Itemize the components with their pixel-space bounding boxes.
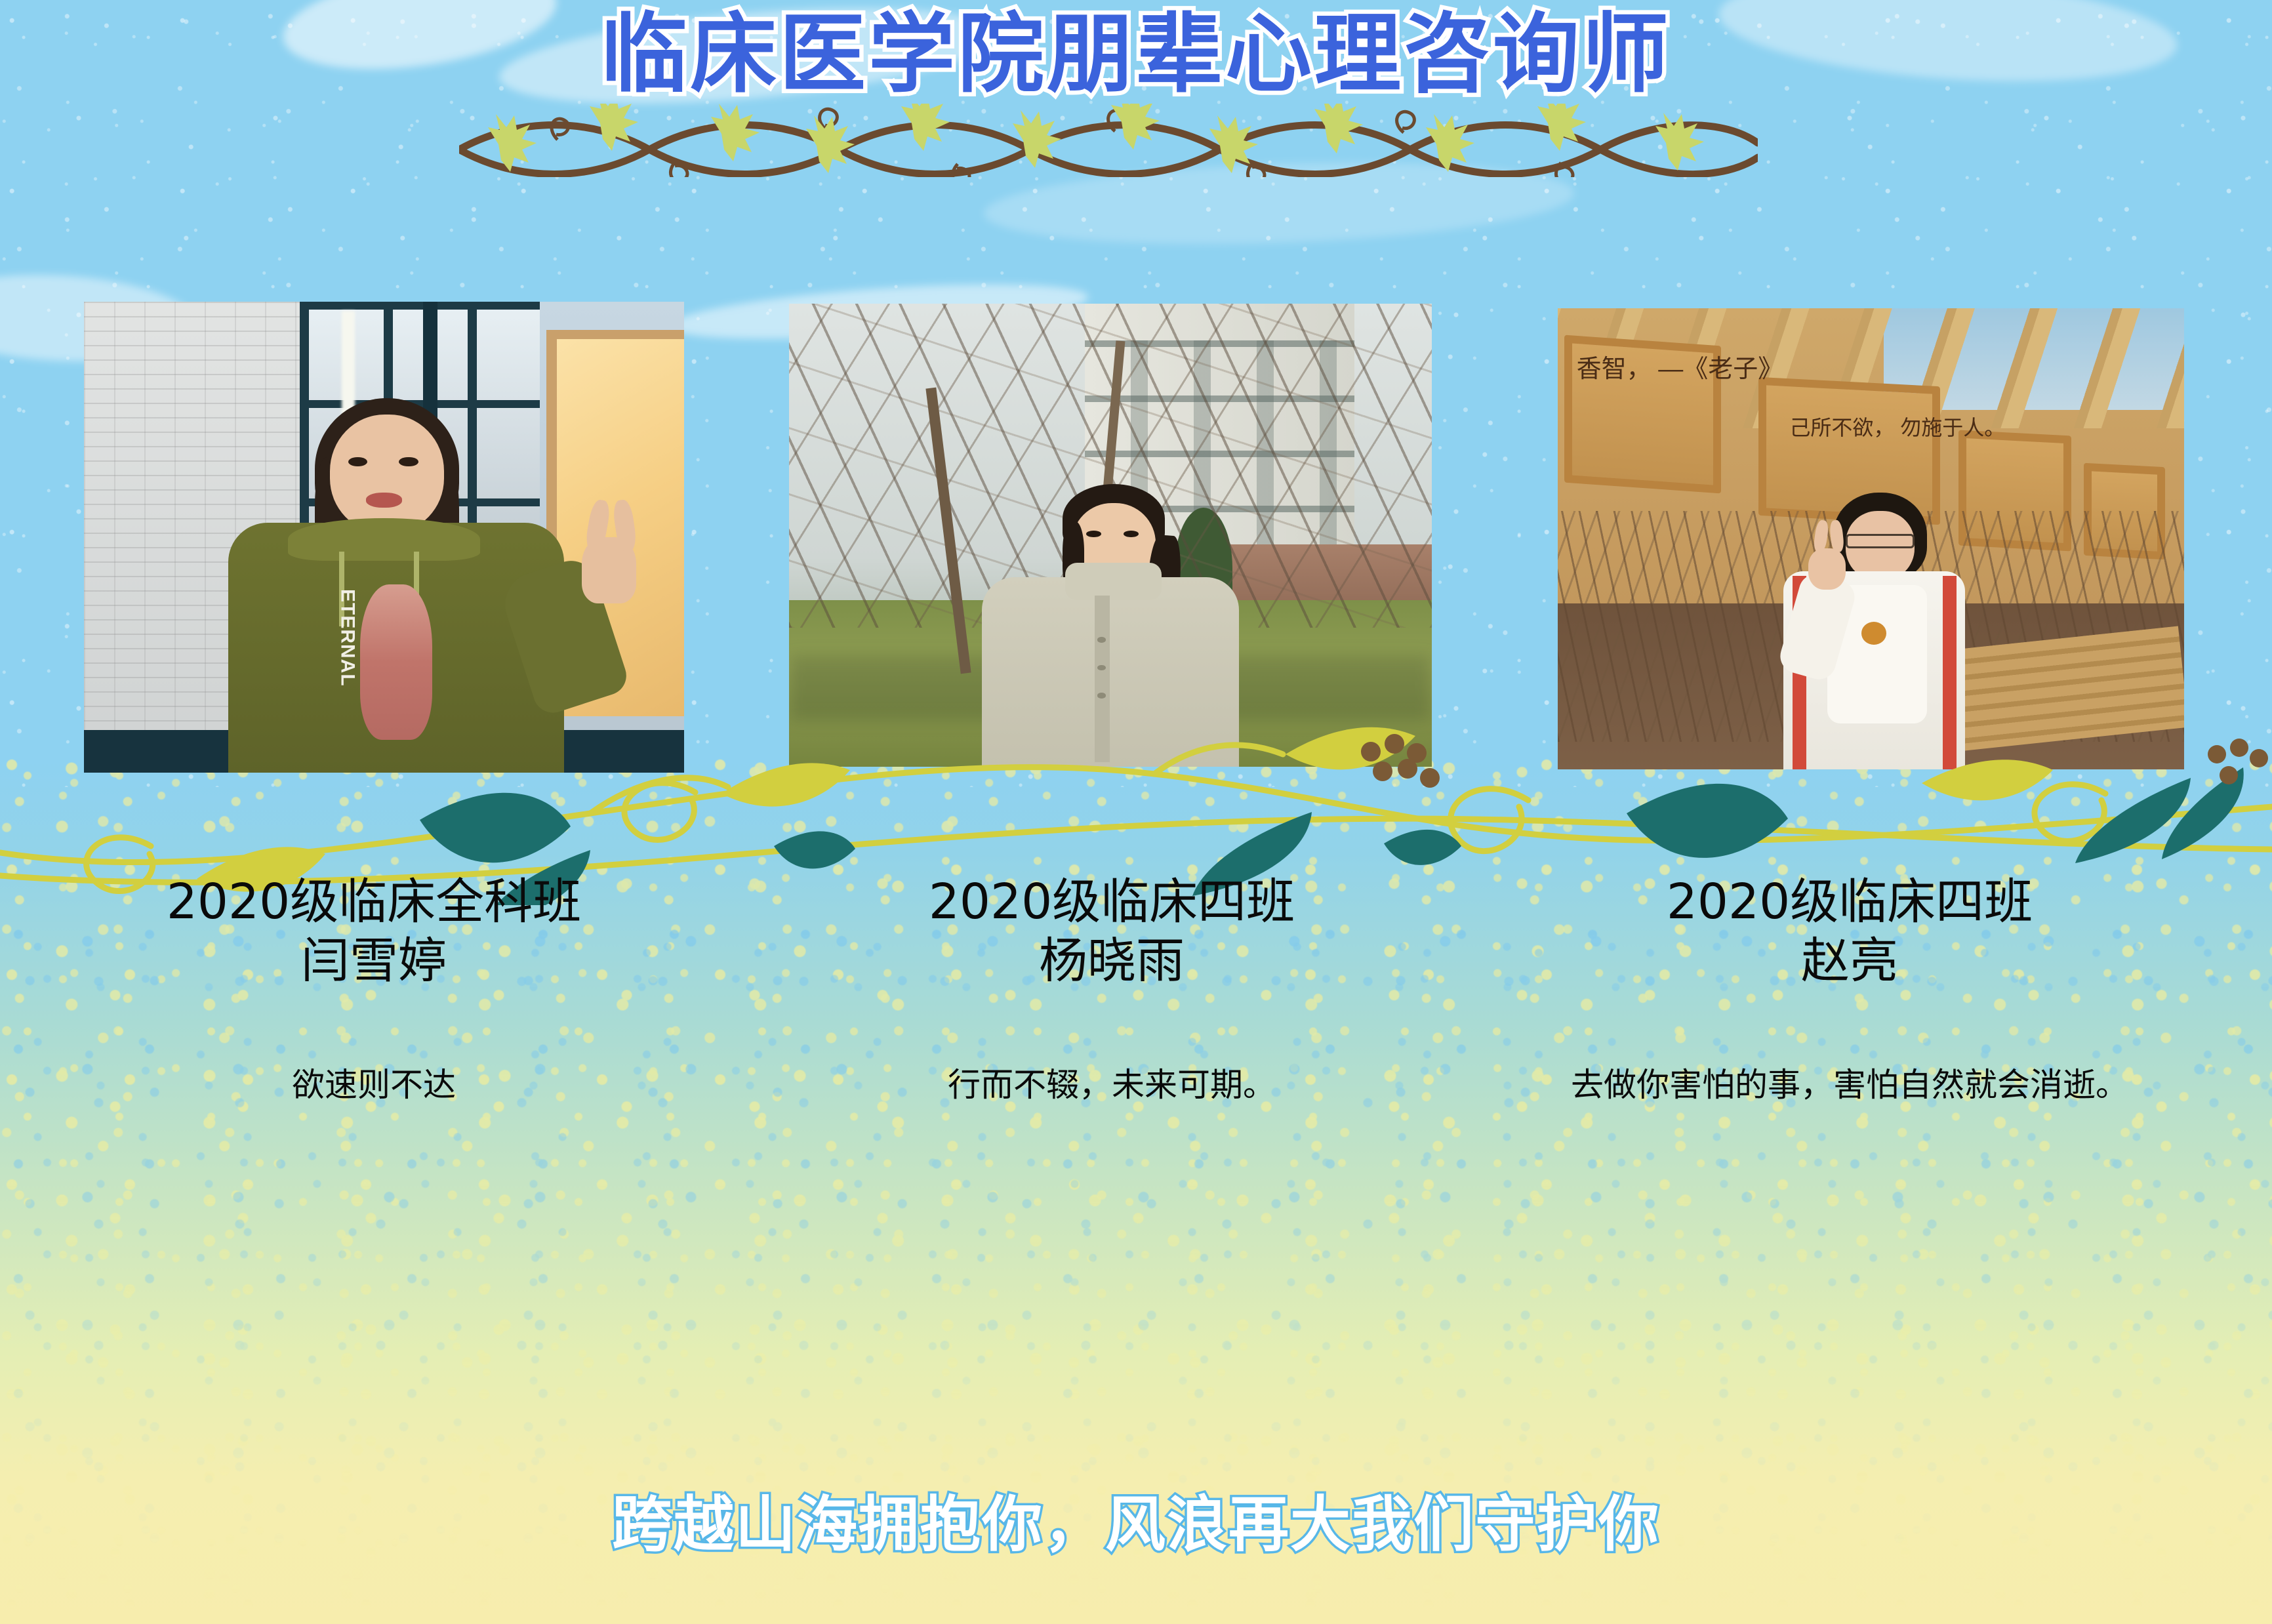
- profile-caption-3: 2020级临床四班 赵亮 去做你害怕的事，害怕自然就会消逝。: [1502, 872, 2197, 1108]
- profile-quote-3: 去做你害怕的事，害怕自然就会消逝。: [1502, 1062, 2197, 1108]
- profile-class-3: 2020级临床四班: [1502, 872, 2197, 931]
- profile-quote-2: 行而不辍，未来可期。: [781, 1062, 1443, 1108]
- profile-name-2: 杨晓雨: [781, 931, 1443, 990]
- profile-class-2: 2020级临床四班: [781, 872, 1443, 931]
- profile-class-1: 2020级临床全科班: [39, 872, 708, 931]
- profile-quote-1: 欲速则不达: [39, 1062, 708, 1108]
- profile-name-1: 闫雪婷: [39, 931, 708, 990]
- profile-photo-2: [789, 304, 1432, 767]
- profile-photo-1: ETERNAL: [84, 302, 684, 773]
- ivy-vine-border: [459, 104, 1758, 177]
- hoodie-print-text: ETERNAL: [321, 589, 357, 749]
- profile-photo-3: 香智， —《老子》 己所不欲， 勿施于人。: [1558, 308, 2184, 769]
- profile-name-3: 赵亮: [1502, 931, 2197, 990]
- poster-slogan: 跨越山海拥抱你，风浪再大我们守护你: [612, 1476, 1660, 1563]
- ivy-leaf-group: [488, 104, 1704, 173]
- profile-caption-2: 2020级临床四班 杨晓雨 行而不辍，未来可期。: [781, 872, 1443, 1108]
- poster-title: 临床医学院朋辈心理咨询师: [601, 5, 1671, 105]
- profile-caption-1: 2020级临床全科班 闫雪婷 欲速则不达: [39, 872, 708, 1108]
- pergola-board-text-2: 己所不欲， 勿施于人。: [1789, 415, 2005, 441]
- poster-title-area: 临床医学院朋辈心理咨询师: [0, 5, 2272, 105]
- poster-canvas: 临床医学院朋辈心理咨询师: [0, 0, 2272, 1624]
- slogan-area: 跨越山海拥抱你，风浪再大我们守护你: [0, 1476, 2272, 1563]
- pergola-board-text-1: 香智， —《老子》: [1577, 354, 1783, 386]
- cloud-shape: [983, 153, 1575, 253]
